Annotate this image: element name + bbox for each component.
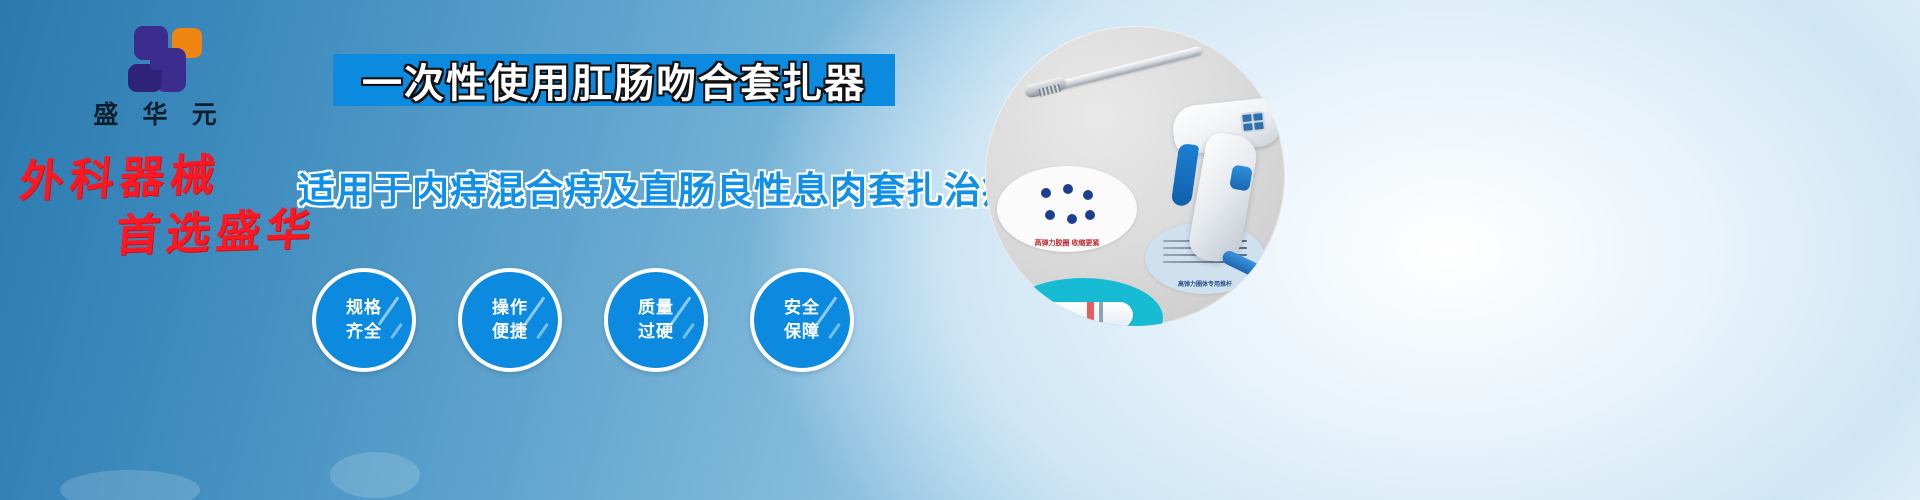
- product-device-illustration: [985, 26, 1285, 326]
- feature-badge[interactable]: 操作 便捷: [458, 268, 562, 372]
- feature-badge[interactable]: 质量 过硬: [604, 268, 708, 372]
- page-title: 一次性使用肛肠吻合套扎器: [362, 51, 866, 109]
- feature-label-line2: 保障: [784, 320, 820, 344]
- product-photo[interactable]: 高弹力胶圈 收缩更紧 高弹力圈体专用推杆: [985, 26, 1285, 326]
- promo-banner: 盛 华 元 外科器械 首选盛华 一次性使用肛肠吻合套扎器 适用于内痔混合痔及直肠…: [0, 0, 1920, 500]
- feature-label-line2: 便捷: [492, 320, 528, 344]
- slogan-block: 外科器械 首选盛华: [20, 152, 340, 258]
- feature-badges: 规格 齐全 操作 便捷 质量 过硬 安全 保障: [312, 268, 854, 372]
- slogan-line-1: 外科器械: [17, 146, 343, 207]
- feature-label-line1: 规格: [346, 296, 382, 320]
- subtitle: 适用于内痔混合痔及直肠良性息肉套扎治疗: [298, 160, 918, 214]
- feature-label-line1: 操作: [492, 296, 528, 320]
- slash-decor-small-icon: [682, 323, 695, 339]
- feature-label-line2: 齐全: [346, 320, 382, 344]
- title-bar: 一次性使用肛肠吻合套扎器: [333, 54, 895, 106]
- feature-label-line1: 安全: [784, 296, 820, 320]
- feature-badge[interactable]: 规格 齐全: [312, 268, 416, 372]
- brand-logo[interactable]: 盛 华 元: [60, 26, 250, 130]
- decor-blob: [330, 452, 420, 498]
- slash-decor-small-icon: [536, 323, 549, 339]
- decor-blob: [60, 470, 200, 500]
- feature-label-line1: 质量: [638, 296, 674, 320]
- brand-name: 盛 华 元: [60, 102, 250, 130]
- slash-decor-small-icon: [828, 323, 841, 339]
- feature-label-line2: 过硬: [638, 320, 674, 344]
- company-logo-icon: [112, 26, 198, 96]
- feature-badge[interactable]: 安全 保障: [750, 268, 854, 372]
- slash-decor-small-icon: [390, 323, 403, 339]
